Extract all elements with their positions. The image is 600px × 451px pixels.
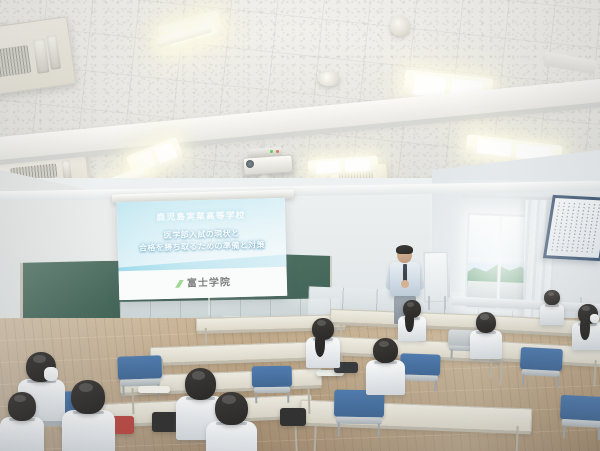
- hair-highlight: [480, 314, 489, 319]
- hair-highlight: [548, 292, 554, 296]
- framed-calligraphy-plaque: [543, 195, 600, 261]
- chair-leg: [556, 376, 559, 387]
- chair-leg: [338, 423, 340, 437]
- student-head: [71, 380, 105, 414]
- student-head: [403, 300, 421, 318]
- presenter-hands: [401, 280, 409, 288]
- student-far-left-back: [0, 392, 44, 451]
- student-right-masked: [572, 304, 600, 346]
- student-head: [544, 290, 559, 305]
- chair-5: [399, 353, 440, 390]
- student-center-ponytail-2: [398, 300, 426, 338]
- chair-leg: [450, 350, 452, 358]
- student-uniform-shirt: [0, 417, 44, 451]
- student-center-boy: [366, 338, 405, 391]
- student-right-boy: [470, 312, 502, 356]
- fuji-mountain-mark-icon: [175, 280, 184, 288]
- student-back-right: [540, 290, 564, 322]
- projector-status-led: [270, 150, 273, 153]
- hair-highlight: [222, 395, 236, 404]
- student-head: [215, 392, 248, 425]
- portable-whiteboard: [424, 252, 449, 302]
- chair-backrest: [560, 395, 600, 422]
- ac-grille: [0, 45, 31, 78]
- chair-leg: [562, 425, 565, 438]
- hair-highlight: [379, 341, 390, 348]
- ceiling-speaker-2: [390, 16, 410, 36]
- student-head: [373, 338, 398, 363]
- presenter-hair: [396, 245, 413, 254]
- chair-seat: [521, 369, 560, 377]
- chair-seat: [401, 374, 438, 381]
- chair-leg: [378, 423, 380, 437]
- chair-backrest: [400, 353, 441, 375]
- chair-backrest: [117, 355, 162, 380]
- calligraphy-text-lines: [551, 202, 600, 254]
- chair-backrest: [252, 366, 292, 388]
- student-uniform-shirt: [62, 410, 115, 451]
- whiteboard-leg: [444, 296, 446, 310]
- student-uniform-shirt: [206, 421, 257, 451]
- student-head: [8, 392, 36, 421]
- face-mask: [44, 367, 58, 381]
- student-head: [476, 312, 497, 333]
- projector-lens: [246, 160, 254, 168]
- student-front-left-2: [62, 380, 115, 451]
- classroom-seminar-photo: 鹿児島実業高等学校 医学部入試の現状と 合格を勝ち取るための準備と対策 富士学院: [0, 0, 600, 451]
- hair-highlight: [33, 355, 46, 363]
- chair-leg: [522, 374, 525, 385]
- ac-vent: [46, 35, 61, 70]
- chair-3: [252, 366, 293, 403]
- face-mask: [590, 314, 599, 323]
- whiteboard-leg: [428, 296, 430, 310]
- chair-leg: [287, 392, 289, 403]
- hair-highlight: [582, 306, 590, 311]
- hair-highlight: [317, 320, 326, 326]
- chair-leg: [122, 385, 124, 397]
- roll-down-projection-screen: 鹿児島実業高等学校 医学部入試の現状と 合格を勝ち取るための準備と対策 富士学院: [117, 198, 288, 300]
- chair-backrest: [520, 347, 563, 371]
- bag-on-desk-3: [280, 408, 306, 426]
- student-uniform-shirt: [366, 360, 405, 395]
- chair-6: [519, 347, 563, 387]
- hair-highlight: [192, 371, 205, 379]
- slide-logo-text: 富士学院: [187, 278, 231, 290]
- chair-seat: [336, 416, 382, 424]
- chair-seat: [254, 387, 291, 393]
- hair-highlight: [14, 395, 26, 402]
- ceiling-speaker-1: [318, 72, 340, 86]
- student-ponytail-center: [306, 318, 340, 364]
- hair-highlight: [407, 302, 414, 307]
- chair-leg: [435, 380, 437, 391]
- chair-seat: [561, 419, 600, 428]
- projector-power-led: [276, 150, 279, 153]
- ceiling-cassette-ac-1: [0, 16, 76, 96]
- hair-highlight: [79, 383, 93, 392]
- student-uniform-shirt: [470, 330, 502, 359]
- chair-7: [559, 395, 600, 439]
- student-head: [312, 318, 334, 340]
- notebook-1: [138, 386, 170, 393]
- student-mid-left-2: [206, 392, 257, 451]
- chair-4: [334, 390, 385, 437]
